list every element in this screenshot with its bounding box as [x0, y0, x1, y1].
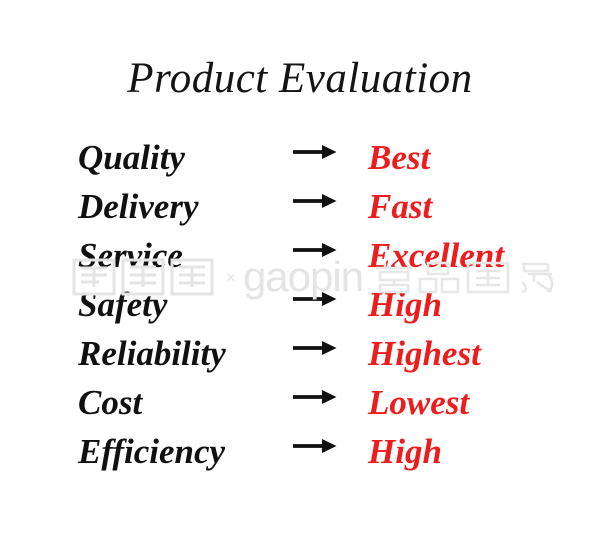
- right-arrow-icon: [293, 231, 368, 267]
- rating-value: High: [368, 287, 548, 323]
- criterion-label: Delivery: [78, 189, 293, 225]
- criterion-label: Safety: [78, 287, 293, 323]
- evaluation-table: Quality Best Delivery Fast Service: [78, 133, 548, 476]
- criterion-label: Service: [78, 238, 293, 274]
- criterion-label: Cost: [78, 385, 293, 421]
- table-row: Reliability Highest: [78, 329, 548, 378]
- rating-value: Excellent: [368, 238, 548, 274]
- table-row: Efficiency High: [78, 427, 548, 476]
- right-arrow-icon: [293, 280, 368, 316]
- criterion-label: Quality: [78, 140, 293, 176]
- right-arrow-icon: [293, 182, 368, 218]
- rating-value: High: [368, 434, 548, 470]
- criterion-label: Efficiency: [78, 434, 293, 470]
- page-title: Product Evaluation: [0, 54, 600, 104]
- criterion-label: Reliability: [78, 336, 293, 372]
- table-row: Safety High: [78, 280, 548, 329]
- right-arrow-icon: [293, 329, 368, 365]
- right-arrow-icon: [293, 427, 368, 463]
- rating-value: Best: [368, 140, 548, 176]
- rating-value: Lowest: [368, 385, 548, 421]
- right-arrow-icon: [293, 133, 368, 169]
- table-row: Cost Lowest: [78, 378, 548, 427]
- right-arrow-icon: [293, 378, 368, 414]
- table-row: Delivery Fast: [78, 182, 548, 231]
- table-row: Quality Best: [78, 133, 548, 182]
- image-canvas: Product Evaluation Quality Best Delivery…: [0, 0, 600, 548]
- rating-value: Highest: [368, 336, 548, 372]
- rating-value: Fast: [368, 189, 548, 225]
- table-row: Service Excellent: [78, 231, 548, 280]
